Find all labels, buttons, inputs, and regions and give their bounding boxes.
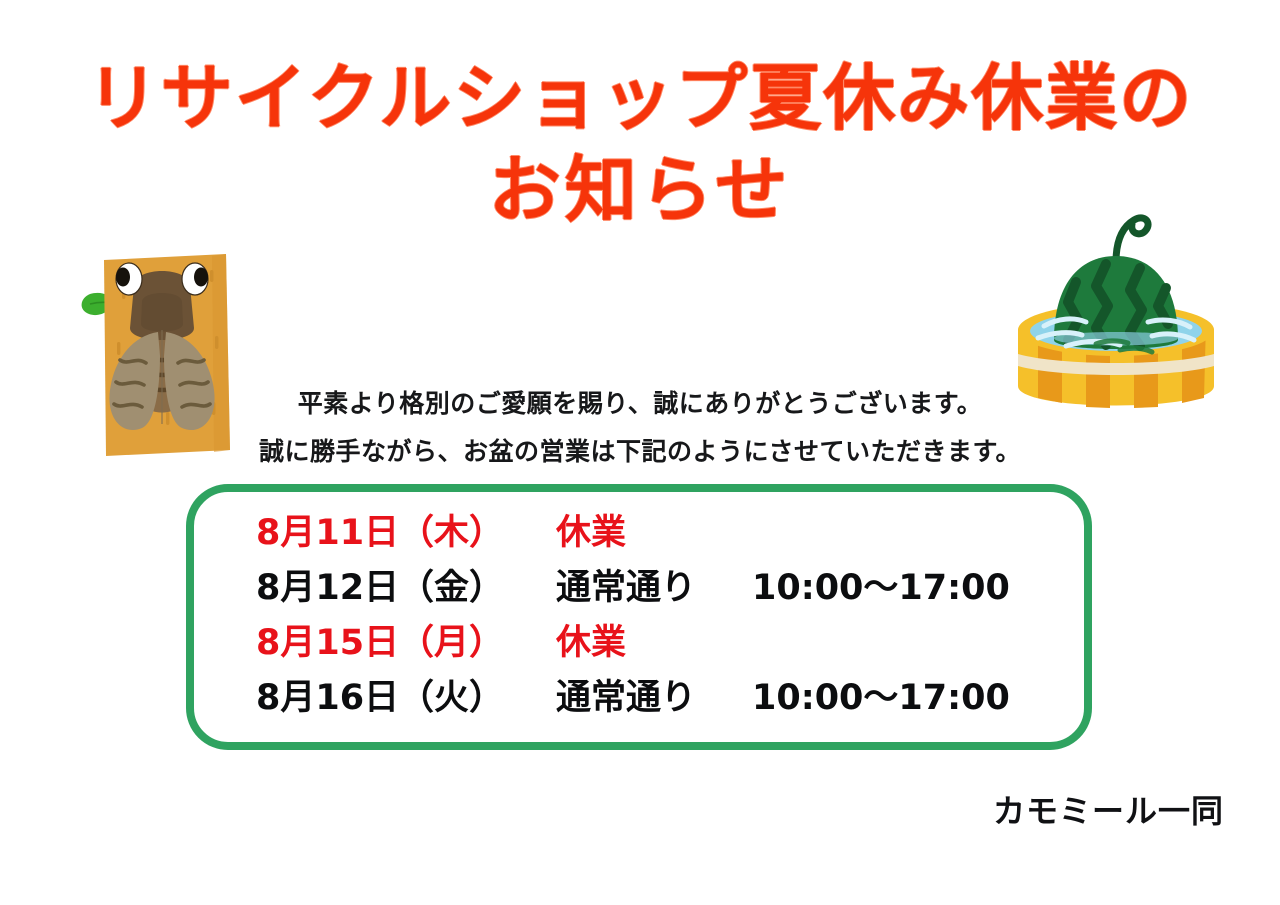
schedule-box: 8月11日（木） 休業 8月12日（金） 通常通り 10:00～17:00 8月…: [186, 484, 1092, 750]
schedule-row: 8月11日（木） 休業: [194, 506, 1084, 561]
schedule-status: 通常通り: [556, 671, 752, 726]
schedule-status: 休業: [556, 616, 752, 671]
schedule-date: 8月16日（火）: [256, 671, 556, 726]
body-line-1: 平素より格別のご愛願を賜り、誠にありがとうございます。: [0, 380, 1280, 428]
schedule-date: 8月12日（金）: [256, 561, 556, 616]
schedule-row-list: 8月11日（木） 休業 8月12日（金） 通常通り 10:00～17:00 8月…: [194, 506, 1084, 726]
schedule-date: 8月11日（木）: [256, 506, 556, 561]
schedule-row: 8月16日（火） 通常通り 10:00～17:00: [194, 671, 1084, 726]
schedule-status: 休業: [556, 506, 752, 561]
poster-canvas: リサイクルショップ夏休み休業の お知らせ: [0, 0, 1280, 905]
schedule-status: 通常通り: [556, 561, 752, 616]
schedule-date: 8月15日（月）: [256, 616, 556, 671]
body-line-2: 誠に勝手ながら、お盆の営業は下記のようにさせていただきます。: [0, 428, 1280, 476]
body-text: 平素より格別のご愛願を賜り、誠にありがとうございます。 誠に勝手ながら、お盆の営…: [0, 380, 1280, 476]
title-line-1: リサイクルショップ夏休み休業の: [0, 52, 1280, 144]
schedule-hours: 10:00～17:00: [752, 671, 1010, 726]
signature: カモミール一同: [993, 786, 1224, 832]
schedule-hours: 10:00～17:00: [752, 561, 1010, 616]
schedule-row: 8月12日（金） 通常通り 10:00～17:00: [194, 561, 1084, 616]
schedule-row: 8月15日（月） 休業: [194, 616, 1084, 671]
